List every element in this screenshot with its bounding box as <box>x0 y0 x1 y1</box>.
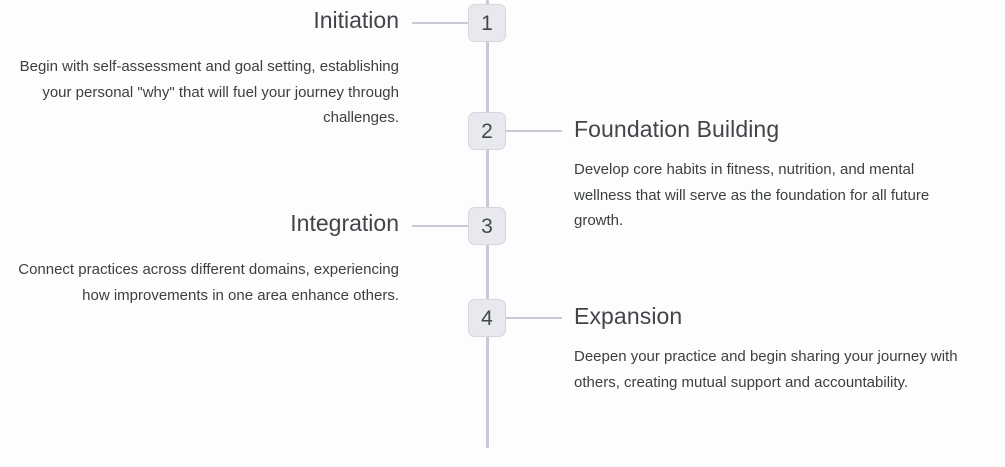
step-description-4: Deepen your practice and begin sharing y… <box>574 344 974 395</box>
step-description-1: Begin with self-assessment and goal sett… <box>0 54 399 131</box>
step-number-badge-4[interactable]: 4 <box>468 299 506 337</box>
step-content-3: Integration Connect practices across dif… <box>0 211 399 308</box>
step-number-badge-3[interactable]: 3 <box>468 207 506 245</box>
step-number-badge-2[interactable]: 2 <box>468 112 506 150</box>
step-title-4: Expansion <box>574 304 974 328</box>
connector-line-3 <box>412 225 470 227</box>
step-number-badge-1[interactable]: 1 <box>468 4 506 42</box>
step-description-3: Connect practices across different domai… <box>0 257 399 308</box>
step-title-3: Integration <box>0 211 399 235</box>
step-content-1: Initiation Begin with self-assessment an… <box>0 8 399 131</box>
connector-line-2 <box>504 130 562 132</box>
step-description-2: Develop core habits in fitness, nutritio… <box>574 157 974 234</box>
connector-line-4 <box>504 317 562 319</box>
step-content-2: Foundation Building Develop core habits … <box>574 117 974 234</box>
step-title-2: Foundation Building <box>574 117 974 141</box>
connector-line-1 <box>412 22 470 24</box>
step-content-4: Expansion Deepen your practice and begin… <box>574 304 974 395</box>
step-title-1: Initiation <box>0 8 399 32</box>
timeline-diagram: 1 Initiation Begin with self-assessment … <box>0 0 1005 467</box>
